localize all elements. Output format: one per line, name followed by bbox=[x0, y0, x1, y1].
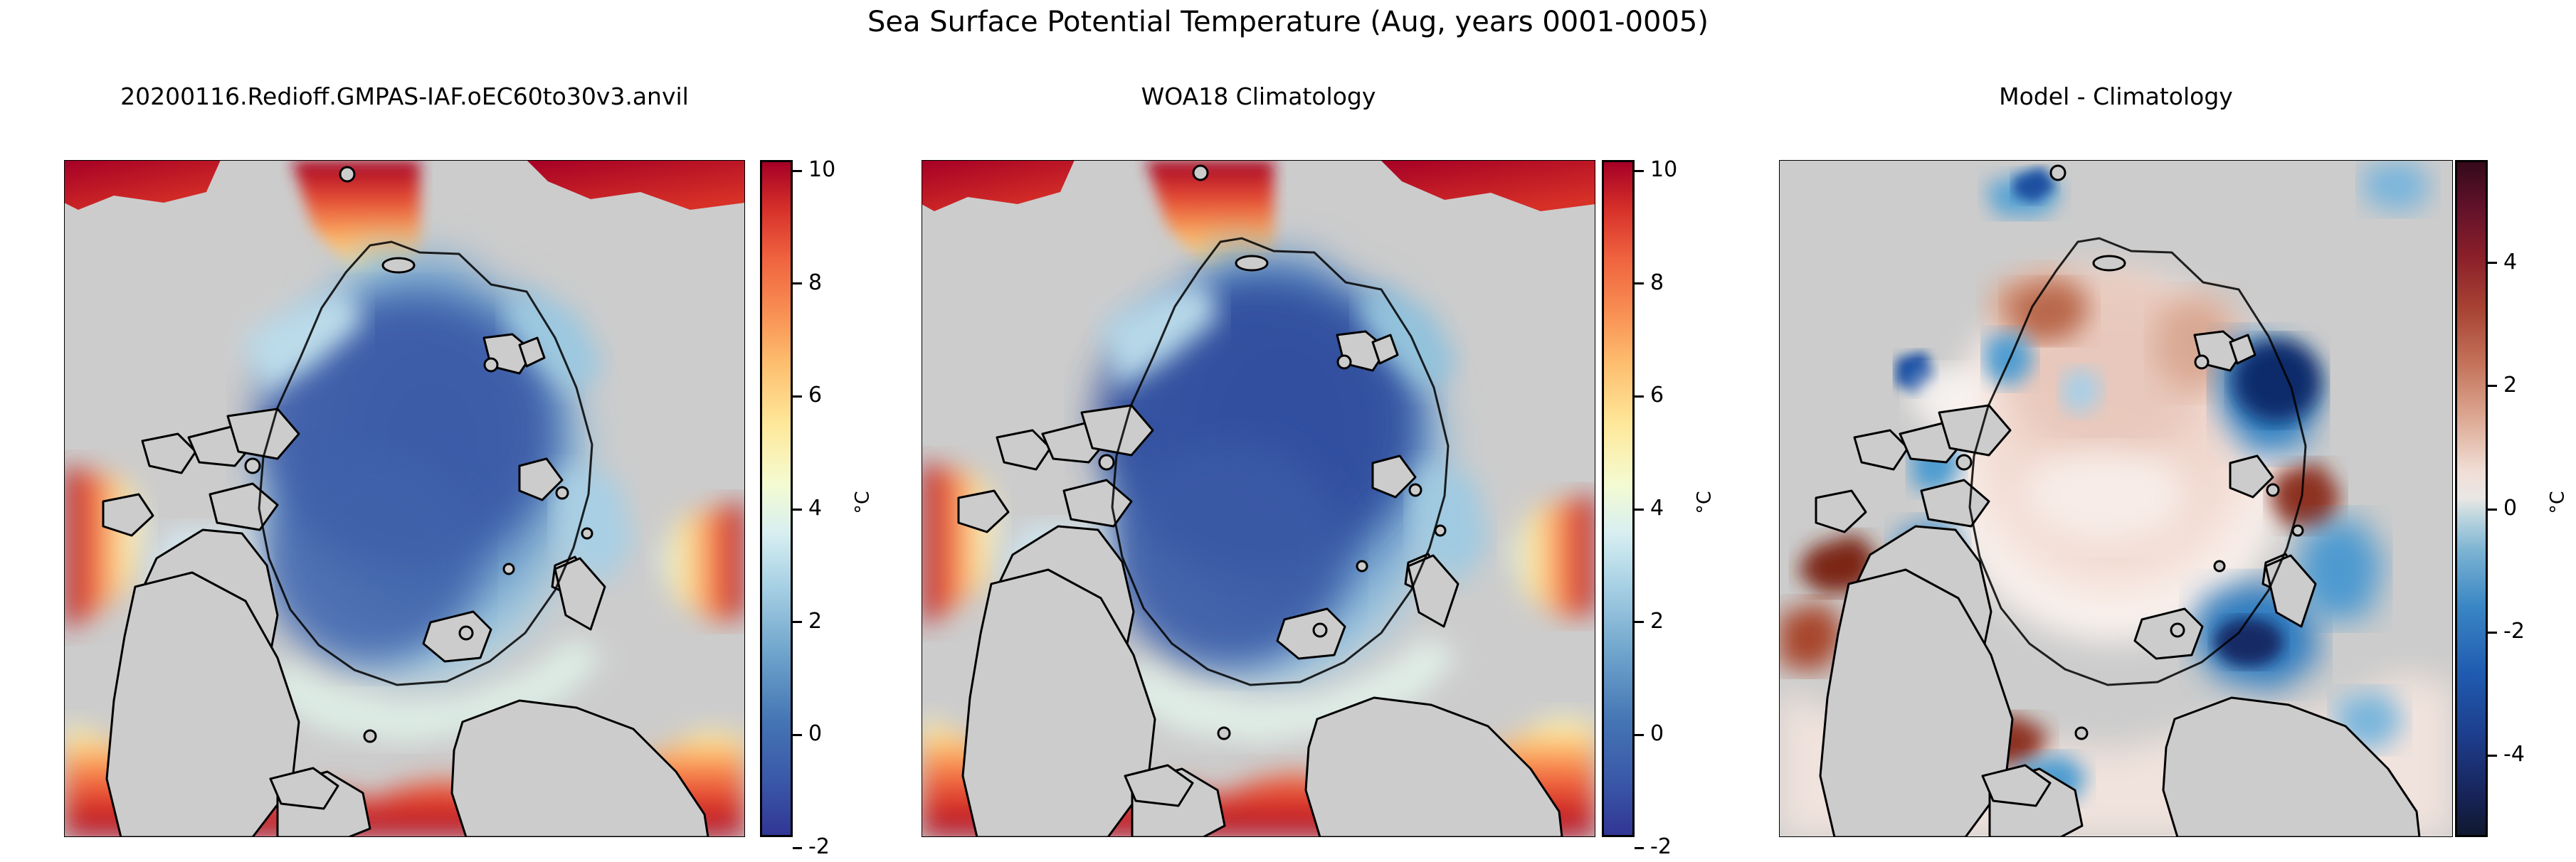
colorbar-tick-label: 10 bbox=[808, 159, 835, 181]
colorbar-tick-mark bbox=[793, 734, 802, 736]
map-panel-difference[interactable] bbox=[1779, 160, 2453, 837]
colorbar-tick-mark bbox=[1635, 734, 1644, 736]
map-panel-climatology[interactable] bbox=[922, 160, 1595, 837]
colorbar-tick-label: 2 bbox=[808, 611, 822, 632]
colorbar-gradient-climatology bbox=[1602, 160, 1635, 837]
colorbar-tick-mark bbox=[2488, 755, 2497, 757]
figure-canvas: Sea Surface Potential Temperature (Aug, … bbox=[0, 0, 2576, 862]
panel-title-climatology: WOA18 Climatology bbox=[922, 83, 1595, 110]
colorbar-tick-label: 8 bbox=[1650, 272, 1664, 294]
colorbar-gradient-difference bbox=[2455, 160, 2488, 837]
panel-title-model: 20200116.Redioff.GMPAS-IAF.oEC60to30v3.a… bbox=[64, 83, 745, 110]
colorbar-unit-label-climatology: °C bbox=[1694, 491, 1716, 514]
colorbar-tick-mark bbox=[2488, 632, 2497, 634]
colorbar-tick-mark bbox=[2488, 262, 2497, 264]
colorbar-tick-label: 2 bbox=[2503, 375, 2517, 396]
colorbar-tick-mark bbox=[2488, 509, 2497, 511]
map-panel-model[interactable] bbox=[64, 160, 745, 837]
colorbar-tick-label: 0 bbox=[1650, 723, 1664, 745]
colorbar-tick-mark bbox=[793, 509, 802, 511]
colorbar-climatology: -2 0 2 4 6 8 10 °C bbox=[1602, 160, 1723, 837]
colorbar-tick-label: 4 bbox=[2503, 252, 2517, 273]
colorbar-tick-mark bbox=[2488, 385, 2497, 387]
map-image-difference bbox=[1779, 160, 2453, 837]
colorbar-tick-label: 8 bbox=[808, 272, 822, 294]
colorbar-tick-mark bbox=[1635, 847, 1644, 849]
colorbar-tick-mark bbox=[1635, 282, 1644, 284]
colorbar-tick-label: -2 bbox=[808, 836, 830, 858]
colorbar-tick-mark bbox=[793, 395, 802, 398]
colorbar-tick-label: 4 bbox=[808, 498, 822, 519]
colorbar-tick-mark bbox=[1635, 621, 1644, 623]
colorbar-tick-label: 0 bbox=[808, 723, 822, 745]
colorbar-tick-label: -4 bbox=[2503, 744, 2525, 765]
figure-suptitle: Sea Surface Potential Temperature (Aug, … bbox=[0, 6, 2576, 38]
panel-title-difference: Model - Climatology bbox=[1779, 83, 2453, 110]
colorbar-tick-mark bbox=[793, 621, 802, 623]
colorbar-gradient-model bbox=[760, 160, 793, 837]
map-image-model bbox=[64, 160, 745, 837]
colorbar-difference: -4 -2 0 2 4 °C bbox=[2455, 160, 2576, 837]
colorbar-tick-label: 10 bbox=[1650, 159, 1677, 181]
colorbar-tick-label: 0 bbox=[2503, 498, 2517, 519]
colorbar-tick-label: -2 bbox=[1650, 836, 1672, 858]
colorbar-tick-mark bbox=[793, 282, 802, 284]
colorbar-tick-mark bbox=[793, 847, 802, 849]
colorbar-tick-label: -2 bbox=[2503, 621, 2525, 642]
colorbar-tick-mark bbox=[793, 170, 802, 172]
colorbar-unit-label-difference: °C bbox=[2547, 491, 2569, 514]
colorbar-unit-label-model: °C bbox=[852, 491, 874, 514]
colorbar-tick-label: 6 bbox=[808, 385, 822, 406]
colorbar-model: -2 0 2 4 6 8 10 °C bbox=[760, 160, 881, 837]
colorbar-tick-label: 2 bbox=[1650, 611, 1664, 632]
colorbar-tick-mark bbox=[1635, 170, 1644, 172]
colorbar-tick-label: 4 bbox=[1650, 498, 1664, 519]
colorbar-tick-mark bbox=[1635, 395, 1644, 398]
colorbar-tick-label: 6 bbox=[1650, 385, 1664, 406]
map-image-climatology bbox=[922, 160, 1595, 837]
colorbar-tick-mark bbox=[1635, 509, 1644, 511]
